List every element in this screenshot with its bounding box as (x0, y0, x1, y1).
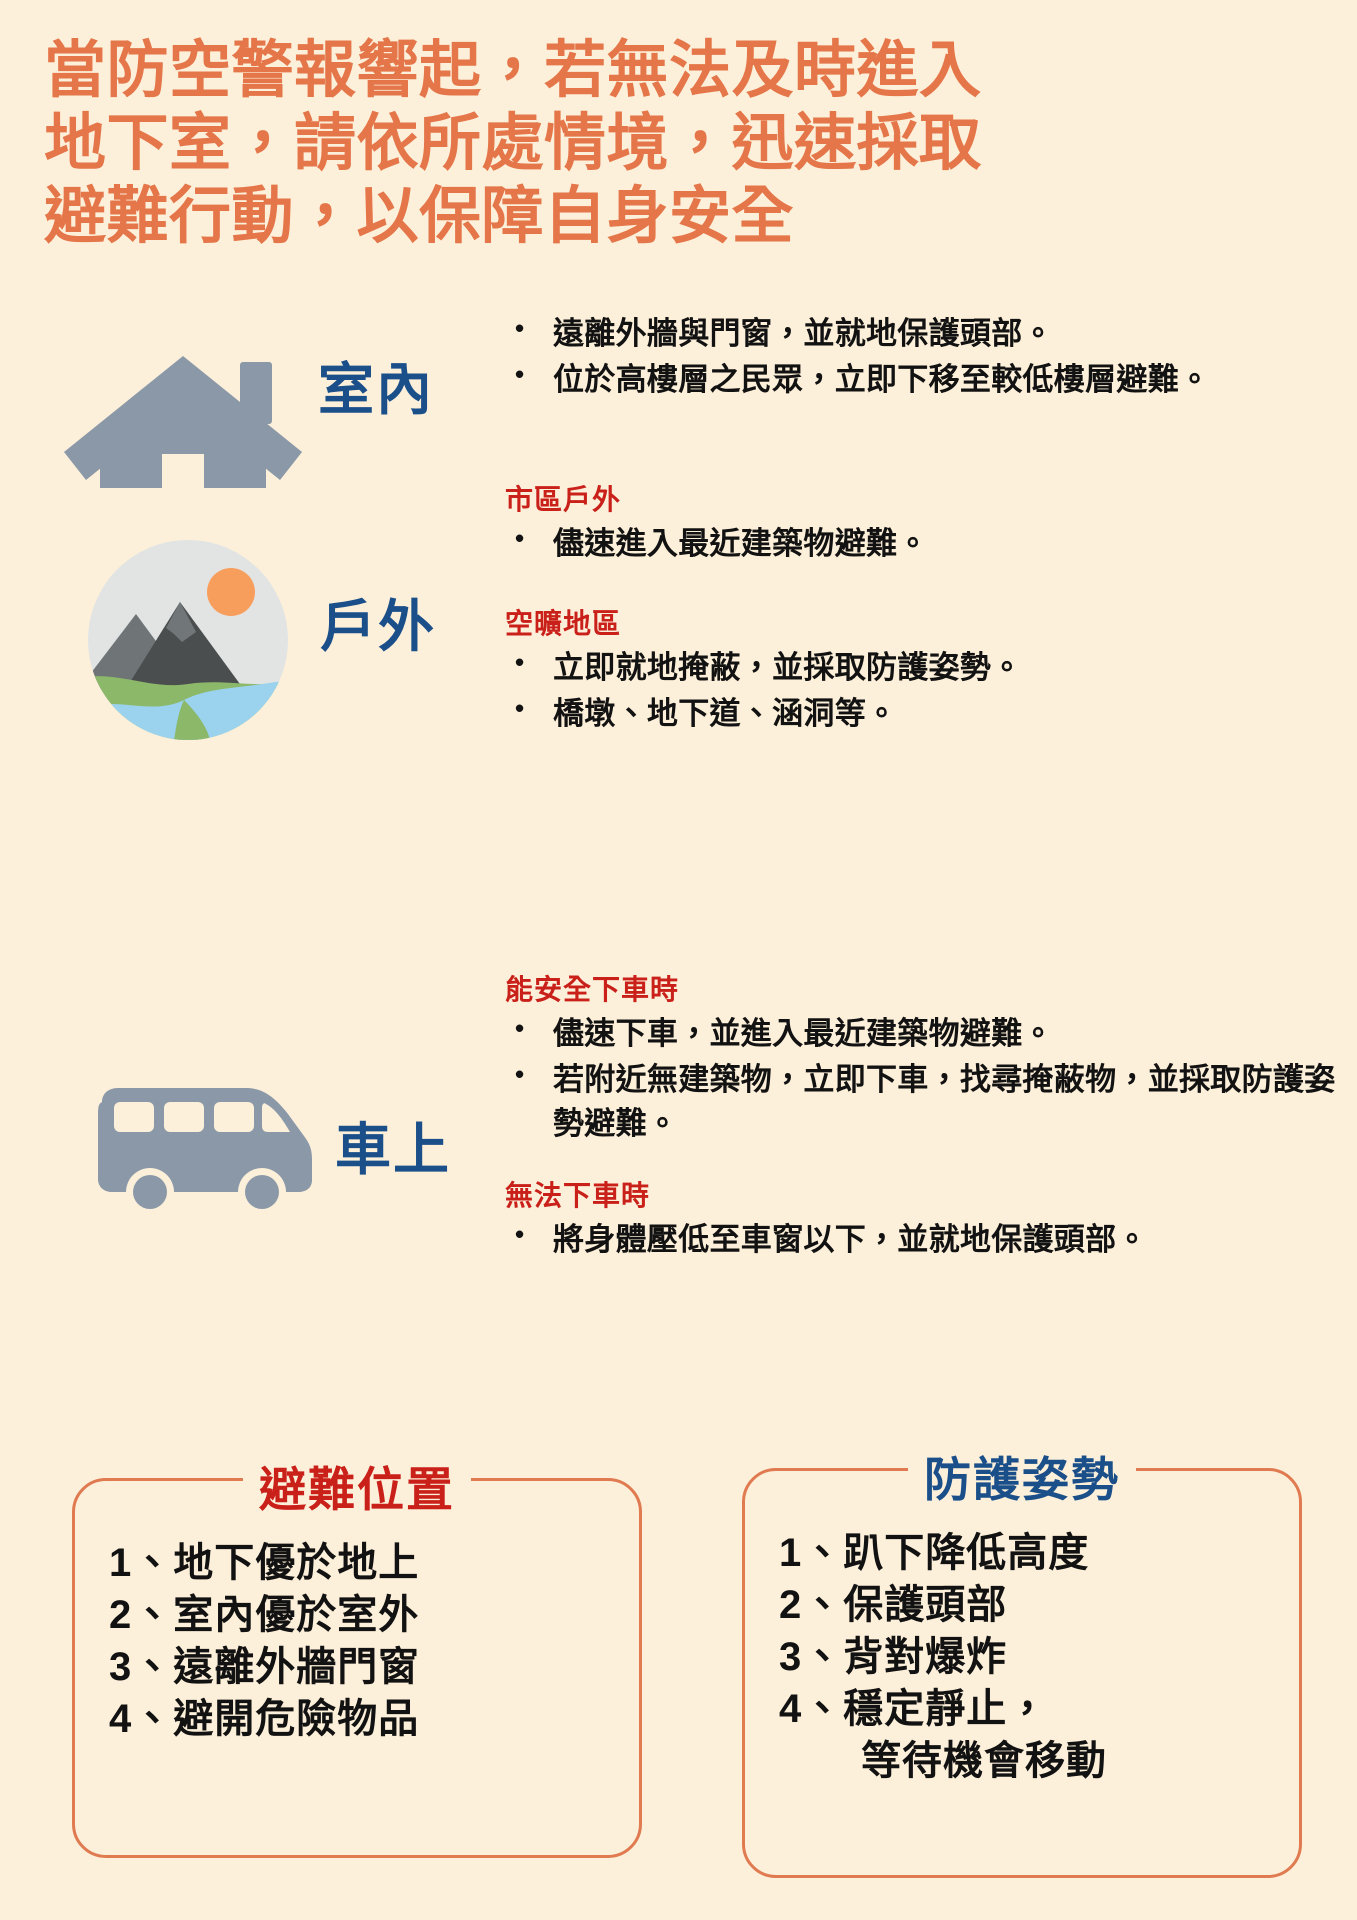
subheading-urban-outdoor: 市區戶外 (505, 478, 1355, 518)
shelter-location-box-title: 避難位置 (243, 1451, 471, 1520)
indoor-text-column: 遠離外牆與門窗，並就地保護頭部。 位於高樓層之民眾，立即下移至較低樓層避難。 (505, 312, 1355, 404)
vehicle-group-can-exit: 能安全下車時 儘速下車，並進入最近建築物避難。 若附近無建築物，立即下車，找尋掩… (505, 968, 1355, 1146)
protective-posture-box: 防護姿勢 1、趴下降低高度 2、保護頭部 3、背對爆炸 4、穩定靜止， 等待機會… (742, 1468, 1302, 1878)
list-item: 3、遠離外牆門窗 (109, 1641, 629, 1693)
list-item: 1、趴下降低高度 (779, 1527, 1289, 1579)
list-item: 位於高樓層之民眾，立即下移至較低樓層避難。 (505, 358, 1355, 402)
protective-posture-list: 1、趴下降低高度 2、保護頭部 3、背對爆炸 4、穩定靜止， 等待機會移動 (779, 1527, 1289, 1787)
spacer (505, 1148, 1355, 1174)
infographic-page: 當防空警報響起，若無法及時進入 地下室，請依所處情境，迅速採取 避難行動，以保障… (0, 0, 1357, 1920)
house-icon (58, 348, 308, 488)
subheading-can-exit-safely: 能安全下車時 (505, 968, 1355, 1008)
title-line-1: 當防空警報響起，若無法及時進入 (44, 34, 1334, 107)
vehicle-group-cannot-exit: 無法下車時 將身體壓低至車窗以下，並就地保護頭部。 (505, 1174, 1355, 1262)
list-item: 若附近無建築物，立即下車，找尋掩蔽物，並採取防護姿勢避難。 (505, 1058, 1355, 1146)
vehicle-cannot-exit-bullet-list: 將身體壓低至車窗以下，並就地保護頭部。 (505, 1218, 1355, 1262)
list-item: 儘速進入最近建築物避難。 (505, 522, 1355, 566)
subheading-cannot-exit: 無法下車時 (505, 1174, 1355, 1214)
title-line-3: 避難行動，以保障自身安全 (44, 180, 1334, 253)
section-label-in-vehicle: 車上 (335, 1105, 451, 1186)
landscape-icon (88, 540, 288, 740)
vehicle-text-column: 能安全下車時 儘速下車，並進入最近建築物避難。 若附近無建築物，立即下車，找尋掩… (505, 968, 1355, 1264)
list-item: 儘速下車，並進入最近建築物避難。 (505, 1012, 1355, 1056)
list-item: 4、避開危險物品 (109, 1693, 629, 1745)
outdoor-group-urban: 市區戶外 儘速進入最近建築物避難。 (505, 478, 1355, 566)
page-title: 當防空警報響起，若無法及時進入 地下室，請依所處情境，迅速採取 避難行動，以保障… (44, 34, 1334, 253)
outdoor-urban-bullet-list: 儘速進入最近建築物避難。 (505, 522, 1355, 566)
vehicle-can-exit-bullet-list: 儘速下車，並進入最近建築物避難。 若附近無建築物，立即下車，找尋掩蔽物，並採取防… (505, 1012, 1355, 1146)
subheading-open-area: 空曠地區 (505, 602, 1355, 642)
section-label-outdoor: 戶外 (320, 582, 436, 663)
bus-icon (96, 1086, 316, 1216)
protective-posture-box-wrapper: 防護姿勢 1、趴下降低高度 2、保護頭部 3、背對爆炸 4、穩定靜止， 等待機會… (742, 1468, 1302, 1878)
list-item: 3、背對爆炸 (779, 1631, 1289, 1683)
list-item: 2、室內優於室外 (109, 1589, 629, 1641)
outdoor-group-open: 空曠地區 立即就地掩蔽，並採取防護姿勢。 橋墩、地下道、涵洞等。 (505, 602, 1355, 736)
list-item: 遠離外牆與門窗，並就地保護頭部。 (505, 312, 1355, 356)
indoor-bullet-list: 遠離外牆與門窗，並就地保護頭部。 位於高樓層之民眾，立即下移至較低樓層避難。 (505, 312, 1355, 402)
list-item: 將身體壓低至車窗以下，並就地保護頭部。 (505, 1218, 1355, 1262)
list-item: 1、地下優於地上 (109, 1537, 629, 1589)
shelter-location-list: 1、地下優於地上 2、室內優於室外 3、遠離外牆門窗 4、避開危險物品 (109, 1537, 629, 1745)
list-item: 等待機會移動 (779, 1735, 1289, 1787)
section-label-indoor: 室內 (318, 345, 434, 426)
list-item: 立即就地掩蔽，並採取防護姿勢。 (505, 646, 1355, 690)
title-line-2: 地下室，請依所處情境，迅速採取 (44, 107, 1334, 180)
shelter-location-box: 避難位置 1、地下優於地上 2、室內優於室外 3、遠離外牆門窗 4、避開危險物品 (72, 1478, 642, 1858)
outdoor-open-bullet-list: 立即就地掩蔽，並採取防護姿勢。 橋墩、地下道、涵洞等。 (505, 646, 1355, 736)
protective-posture-box-title: 防護姿勢 (908, 1441, 1136, 1510)
spacer (505, 568, 1355, 602)
shelter-location-box-wrapper: 避難位置 1、地下優於地上 2、室內優於室外 3、遠離外牆門窗 4、避開危險物品 (72, 1478, 642, 1858)
outdoor-text-column: 市區戶外 儘速進入最近建築物避難。 空曠地區 立即就地掩蔽，並採取防護姿勢。 橋… (505, 478, 1355, 738)
list-item: 橋墩、地下道、涵洞等。 (505, 692, 1355, 736)
list-item: 4、穩定靜止， (779, 1683, 1289, 1735)
list-item: 2、保護頭部 (779, 1579, 1289, 1631)
